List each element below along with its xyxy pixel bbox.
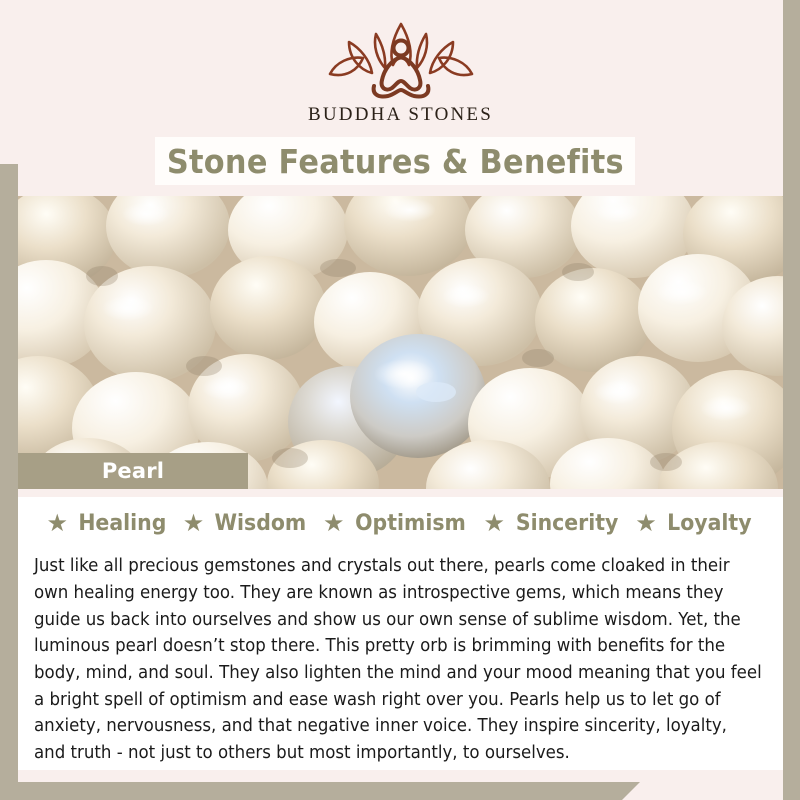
stone-name: Pearl [102,459,164,483]
benefit-item: ★ Wisdom [183,511,310,536]
benefit-item: ★ Sincerity [483,511,622,536]
brand-logo: BUDDHA STONES [18,18,783,126]
content-card: ★ Healing ★ Wisdom ★ Optimism ★ Sincerit… [18,497,783,770]
benefit-item: ★ Optimism [323,511,471,536]
star-icon: ★ [483,512,505,536]
benefit-label: Sincerity [516,511,619,536]
benefits-list: ★ Healing ★ Wisdom ★ Optimism ★ Sincerit… [34,511,767,536]
lotus-meditation-icon [316,18,486,102]
title-band: Stone Features & Benefits [155,137,635,185]
pearl-photo [18,196,783,489]
stone-name-tag: Pearl [18,453,248,489]
description-text: Just like all precious gemstones and cry… [34,553,762,766]
benefit-item: ★ Loyalty [635,511,754,536]
page-title: Stone Features & Benefits [166,142,623,181]
benefit-label: Wisdom [215,511,307,536]
brand-name: BUDDHA STONES [308,104,493,126]
star-icon: ★ [323,512,345,536]
benefit-item: ★ Healing [47,511,170,536]
stone-info-poster: BUDDHA STONES Stone Features & Benefits [0,0,800,800]
benefit-label: Optimism [356,511,467,536]
star-icon: ★ [183,512,205,536]
frame-band-left [0,164,18,800]
star-icon: ★ [635,512,657,536]
benefit-label: Healing [78,511,166,536]
frame-band-right [783,0,800,800]
benefit-label: Loyalty [667,511,751,536]
frame-band-bottom [0,782,640,800]
star-icon: ★ [47,512,69,536]
